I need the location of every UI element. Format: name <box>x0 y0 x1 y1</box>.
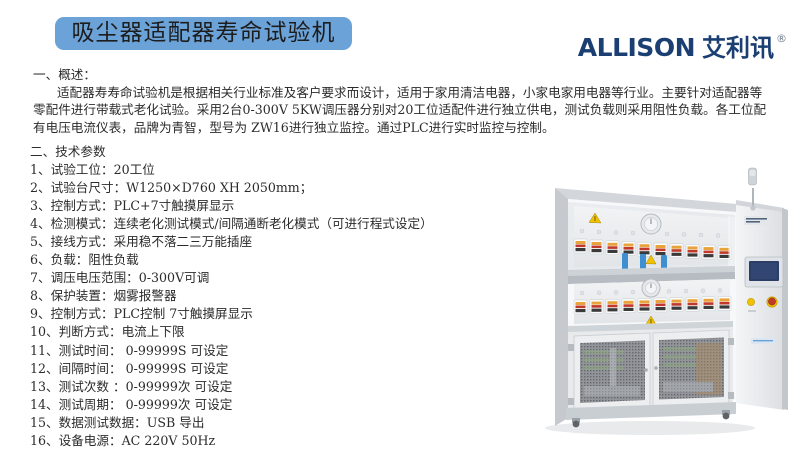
spec-item: 14、测试周期： 0-99999次 可设定 <box>30 396 510 414</box>
spec-item: 15、数据测试数据：USB 导出 <box>30 414 510 432</box>
door-latch-right <box>654 366 658 370</box>
spec-item: 8、保护装置：烟雾报警器 <box>30 287 510 305</box>
mesh-door-right[interactable] <box>653 330 729 406</box>
control-column <box>736 200 784 410</box>
machine-illustration <box>500 160 800 450</box>
spec-item: 10、判断方式：电流上下限 <box>30 323 510 341</box>
overview-heading: 一、概述： <box>33 66 788 84</box>
overview-line: 零配件进行带载式老化试验。采用2台0-300V 5KW调压器分别对20工位适配件… <box>33 101 788 119</box>
emergency-stop-button[interactable] <box>767 297 777 307</box>
spec-item: 6、负载：阻性负载 <box>30 251 510 269</box>
voltage-regulator-dial[interactable] <box>641 214 661 234</box>
spec-item: 4、检测模式：连续老化测试模式/间隔通断老化模式（可进行程式设定） <box>30 215 510 233</box>
overview-line: 有电压电流仪表，品牌为青智，型号为 ZW16进行独立监控。通过PLC进行实时监控… <box>33 119 788 137</box>
spec-item: 11、测试时间： 0-99999S 可设定 <box>30 342 510 360</box>
mesh-door-left[interactable] <box>574 333 650 410</box>
frame-post-left <box>555 188 568 426</box>
brand-name-cn: 艾利讯 <box>702 36 774 60</box>
spec-item: 3、控制方式：PLC+7寸触摸屏显示 <box>30 197 510 215</box>
spec-item: 7、调压电压范围：0-300V可调 <box>30 269 510 287</box>
registered-trademark-icon: ® <box>776 32 787 45</box>
button-label-plate <box>748 310 756 312</box>
spec-item: 1、试验工位：20工位 <box>30 161 510 179</box>
start-button-yellow[interactable] <box>747 298 754 305</box>
spec-item: 2、试验台尺寸：W1250×D760 XH 2050mm； <box>30 179 510 197</box>
spec-list: 二、技术参数 1、试验工位：20工位 2、试验台尺寸：W1250×D760 XH… <box>30 143 510 450</box>
machine-nameplate <box>744 216 770 225</box>
machine-photo <box>500 160 800 450</box>
voltage-regulator-dial-lower[interactable] <box>642 279 660 297</box>
glass-highlight <box>728 216 735 266</box>
spec-item: 5、接线方式：采用稳不落二三万能插座 <box>30 233 510 251</box>
spec-item: 13、测试次数 ：0-99999次 可设定 <box>30 378 510 396</box>
spec-heading: 二、技术参数 <box>30 143 510 161</box>
page-title-banner: 吸尘器适配器寿命试验机 <box>55 17 352 50</box>
slide-root: 吸尘器适配器寿命试验机 ALLISON 艾利讯 ® 一、概述： 适配器寿寿命试验… <box>0 0 800 450</box>
spec-item: 16、设备电源：AC 220V 50Hz <box>30 432 510 450</box>
overview-line: 适配器寿寿命试验机是根据相关行业标准及客户要求而设计，适用于家用清洁电器，小家电… <box>33 84 788 102</box>
spec-item: 9、控制方式：PLC控制 7寸触摸屏显示 <box>30 305 510 323</box>
brand-logo: ALLISON 艾利讯 ® <box>578 30 787 60</box>
hmi-touchscreen[interactable] <box>745 257 783 287</box>
brand-name-en: ALLISON <box>578 35 695 60</box>
page-title: 吸尘器适配器寿命试验机 <box>72 22 336 45</box>
door-latch-left <box>644 368 648 372</box>
control-column-side <box>782 208 788 410</box>
overview-block: 一、概述： 适配器寿寿命试验机是根据相关行业标准及客户要求而设计，适用于家用清洁… <box>33 66 788 136</box>
spec-item: 12、间隔时间： 0-99999S 可设定 <box>30 360 510 378</box>
